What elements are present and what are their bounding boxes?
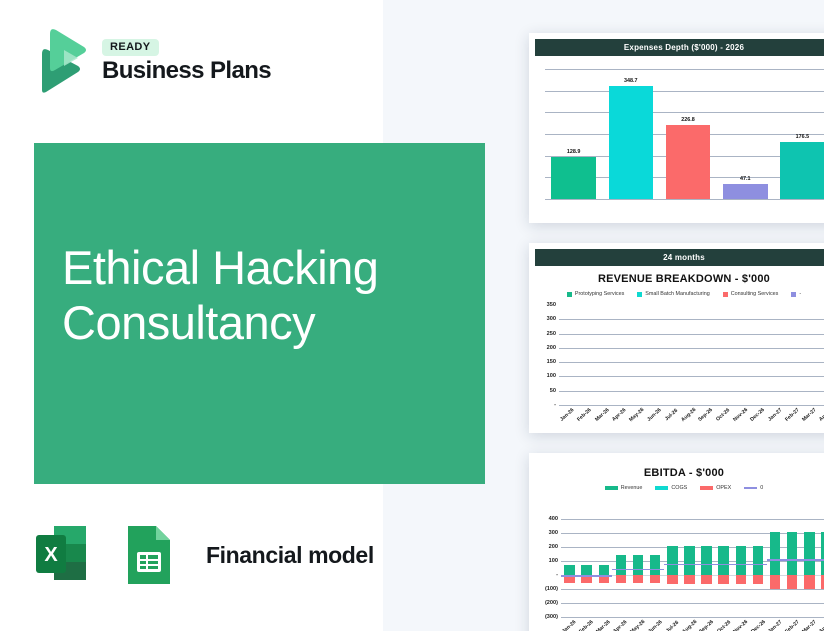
x-axis-tick: Dec-26 <box>750 619 767 631</box>
x-axis-tick: Feb-27 <box>784 619 800 631</box>
legend-item: Prototyping Services <box>567 291 624 297</box>
bar: 226.8 <box>666 125 711 199</box>
bar-value-label: 348.7 <box>624 78 638 84</box>
x-axis-slot: Jan-26 <box>559 405 576 418</box>
brand-name: Business Plans <box>102 59 271 83</box>
line-series-point <box>578 575 595 576</box>
y-axis-tick: - <box>556 572 558 578</box>
x-axis-slot: Aug-26 <box>680 405 698 418</box>
legend-swatch-icon <box>700 486 713 490</box>
line-series-point <box>784 559 801 560</box>
y-axis-tick: 200 <box>547 345 556 351</box>
x-axis-tick: May-26 <box>628 407 645 423</box>
x-axis-tick: Jan-26 <box>559 407 575 422</box>
legend-swatch-icon <box>744 487 757 489</box>
x-axis-tick: Dec-26 <box>749 407 766 423</box>
x-axis-slot: Jun-26 <box>647 617 664 630</box>
legend-label: Revenue <box>621 485 643 491</box>
bar-slot <box>561 519 578 617</box>
x-axis-tick: Jan-27 <box>767 619 783 631</box>
x-axis-slot: Nov-26 <box>732 617 749 630</box>
brand-text: READY Business Plans <box>102 39 271 83</box>
x-axis-slot: Mar-26 <box>595 617 612 630</box>
bar-group: 128.9348.7226.847.1176.5 <box>545 69 824 199</box>
y-axis-tick: 100 <box>549 558 558 564</box>
bar-segment <box>599 565 610 576</box>
x-axis-tick: Sep-26 <box>699 619 716 631</box>
gridline <box>545 199 824 200</box>
bar-slot <box>681 519 698 617</box>
legend-label: Prototyping Services <box>575 291 624 297</box>
legend-item: COGS <box>655 485 687 491</box>
bar-slot <box>664 519 681 617</box>
bar-segment <box>633 555 644 575</box>
bar-slot <box>559 305 576 405</box>
ebitda-plot: 400300200100-(100)(200)(300)Jan-26Feb-26… <box>561 519 824 617</box>
bar-segment <box>736 546 747 575</box>
excel-icon: X <box>30 522 96 588</box>
x-axis-slot: Nov-26 <box>732 405 749 418</box>
bar-segment <box>616 555 627 575</box>
expenses-plot: 128.9348.7226.847.1176.5 <box>545 69 824 199</box>
line-series-point <box>715 564 732 565</box>
legend-label: COGS <box>671 485 687 491</box>
x-axis-slot: Dec-26 <box>750 617 767 630</box>
footer-row: X Financial model <box>30 522 374 588</box>
line-series-point <box>647 569 664 570</box>
line-series-point <box>681 564 698 565</box>
x-axis-slot: Mar-26 <box>593 405 610 418</box>
legend-swatch-icon <box>567 292 572 297</box>
bar-segment <box>684 546 695 575</box>
line-series-point <box>732 564 749 565</box>
brand-lockup: READY Business Plans <box>28 28 271 94</box>
x-axis-slot: Sep-26 <box>698 617 715 630</box>
bar: 176.5 <box>780 142 824 199</box>
bar-slot <box>578 519 595 617</box>
y-axis-tick: (200) <box>545 600 558 606</box>
bar-segment <box>581 565 592 576</box>
x-axis-labels: Jan-26Feb-26Mar-26Apr-26May-26Jun-26Jul-… <box>561 617 824 630</box>
legend-swatch-icon <box>655 486 668 490</box>
bar: 47.1 <box>723 184 768 199</box>
x-axis-slot: Jun-26 <box>645 405 662 418</box>
x-axis-tick: Mar-26 <box>594 407 610 423</box>
x-axis-slot: Mar-27 <box>801 405 818 418</box>
legend-label: Small Batch Manufacturing <box>645 291 709 297</box>
bar-slot <box>818 519 824 617</box>
legend-item: Consulting Services <box>723 291 779 297</box>
page-title: Ethical Hacking Consultancy <box>62 240 472 351</box>
bar-segment <box>701 575 712 584</box>
bar-slot <box>801 519 818 617</box>
legend-item: OPEX <box>700 485 731 491</box>
bar-slot <box>749 519 766 617</box>
x-axis-slot: Jan-26 <box>561 617 578 630</box>
bar-slot <box>697 305 714 405</box>
bar-segment <box>650 575 661 583</box>
bar-segment <box>667 575 678 584</box>
bar-segment <box>684 575 695 584</box>
x-axis-slot: Jan-27 <box>766 405 783 418</box>
bar-segment <box>753 575 764 584</box>
bar-slot: 226.8 <box>659 69 716 199</box>
y-axis-tick: - <box>554 402 556 408</box>
x-axis-tick: Apr-27 <box>818 407 824 422</box>
chart-card-expenses: Expenses Depth ($'000) - 2026 128.9348.7… <box>529 33 824 223</box>
x-axis-slot: Feb-27 <box>784 617 801 630</box>
revenue-chart-header: 24 months <box>535 249 824 266</box>
x-axis-tick: Jul-26 <box>664 408 679 422</box>
legend-swatch-icon <box>605 486 618 490</box>
x-axis-slot: Sep-26 <box>697 405 714 418</box>
bar-slot <box>784 519 801 617</box>
x-axis-tick: Nov-26 <box>733 619 750 631</box>
bar-slot <box>818 305 824 405</box>
x-axis-tick: Oct-26 <box>715 407 731 422</box>
revenue-chart-title: REVENUE BREAKDOWN - $'000 <box>529 273 824 285</box>
x-axis-slot: Feb-26 <box>576 405 593 418</box>
line-series-point <box>818 559 824 560</box>
y-axis-tick: (100) <box>545 586 558 592</box>
x-axis-tick: Apr-26 <box>612 619 628 631</box>
bar-segment <box>770 532 781 575</box>
bar-segment <box>718 575 729 584</box>
bar-slot <box>801 305 818 405</box>
bar-segment <box>633 575 644 583</box>
bar-slot <box>732 305 749 405</box>
x-axis-slot: Jan-27 <box>767 617 784 630</box>
bar-group <box>561 519 824 617</box>
bar: 128.9 <box>551 157 596 199</box>
x-axis-tick: Jan-27 <box>767 407 783 422</box>
x-axis-tick: Sep-26 <box>698 407 715 423</box>
bar-slot <box>766 305 783 405</box>
y-axis-tick: 350 <box>547 302 556 308</box>
line-series-point <box>612 569 629 570</box>
x-axis-slot: Oct-26 <box>715 405 732 418</box>
x-axis-tick: Jan-26 <box>561 619 577 631</box>
x-axis-tick: Aug-26 <box>681 619 698 631</box>
bar-value-label: 128.9 <box>567 149 581 155</box>
legend-swatch-icon <box>791 292 796 297</box>
y-axis-tick: 200 <box>549 544 558 550</box>
bar-slot: 176.5 <box>774 69 824 199</box>
bar-slot <box>698 519 715 617</box>
page-title-line1: Ethical Hacking <box>62 240 472 295</box>
x-axis-slot: Apr-26 <box>612 617 629 630</box>
bar-segment <box>736 575 747 584</box>
revenue-legend: Prototyping ServicesSmall Batch Manufact… <box>529 291 824 297</box>
bar-slot <box>715 519 732 617</box>
bar-slot <box>732 519 749 617</box>
y-axis-tick: 300 <box>549 530 558 536</box>
x-axis-slot: Mar-27 <box>801 617 818 630</box>
x-axis-tick: Apr-27 <box>818 619 824 631</box>
play-triangles-logo-icon <box>28 28 90 94</box>
x-axis-tick: Mar-27 <box>801 407 817 423</box>
bar-value-label: 176.5 <box>796 134 810 140</box>
bar-slot <box>749 305 766 405</box>
x-axis-slot: Aug-26 <box>681 617 699 630</box>
y-axis-tick: (300) <box>545 614 558 620</box>
line-series-point <box>801 559 818 560</box>
chart-card-ebitda: EBITDA - $'000 RevenueCOGSOPEX0 40030020… <box>529 453 824 631</box>
y-axis-tick: 150 <box>547 359 556 365</box>
bar-segment <box>787 532 798 575</box>
bar-slot: 128.9 <box>545 69 602 199</box>
x-axis-tick: Nov-26 <box>732 407 749 423</box>
x-axis-tick: Jul-26 <box>665 620 680 631</box>
x-axis-slot: Dec-26 <box>749 405 766 418</box>
x-axis-slot: Apr-27 <box>818 405 824 418</box>
bar-segment <box>667 546 678 575</box>
bar-slot <box>647 519 664 617</box>
x-axis-tick: Apr-26 <box>611 407 627 422</box>
line-series-point <box>664 564 681 565</box>
x-axis-slot: Apr-26 <box>611 405 628 418</box>
x-axis-tick: Feb-26 <box>578 619 594 631</box>
x-axis-tick: Jun-26 <box>647 619 663 631</box>
x-axis-slot: Jul-26 <box>664 617 681 630</box>
y-axis-tick: 100 <box>547 373 556 379</box>
y-axis-tick: 300 <box>547 316 556 322</box>
legend-label: OPEX <box>716 485 731 491</box>
bar-segment <box>616 575 627 583</box>
x-axis-tick: Feb-26 <box>577 407 593 423</box>
line-series-point <box>630 569 647 570</box>
x-axis-tick: Feb-27 <box>784 407 800 423</box>
bar-segment <box>787 575 798 589</box>
bar-slot <box>612 519 629 617</box>
ready-badge: READY <box>102 39 159 56</box>
bar-slot <box>628 305 645 405</box>
bar-segment <box>804 575 815 589</box>
legend-item: Small Batch Manufacturing <box>637 291 709 297</box>
bar-slot: 348.7 <box>602 69 659 199</box>
x-axis-slot: Feb-26 <box>578 617 595 630</box>
x-axis-tick: Jun-26 <box>646 407 662 423</box>
legend-swatch-icon <box>723 292 728 297</box>
x-axis-tick: Aug-26 <box>680 407 697 423</box>
bar-value-label: 226.8 <box>681 117 695 123</box>
ebitda-legend: RevenueCOGSOPEX0 <box>529 485 824 491</box>
legend-item: 0 <box>744 485 763 491</box>
bar-slot <box>611 305 628 405</box>
bar-segment <box>753 546 764 575</box>
line-series-point <box>698 564 715 565</box>
x-axis-tick: Mar-27 <box>801 619 817 631</box>
x-axis-tick: May-26 <box>629 619 646 631</box>
chart-card-revenue: 24 months REVENUE BREAKDOWN - $'000 Prot… <box>529 243 824 433</box>
bar-slot <box>576 305 593 405</box>
line-series-point <box>749 564 766 565</box>
bar: 348.7 <box>609 86 654 199</box>
bar-segment <box>701 546 712 575</box>
bar-value-label: 47.1 <box>740 176 751 182</box>
x-axis-tick: Mar-26 <box>595 619 611 631</box>
bar-slot <box>595 519 612 617</box>
bar-slot: 47.1 <box>717 69 774 199</box>
bar-slot <box>594 305 611 405</box>
page-title-line2: Consultancy <box>62 295 472 350</box>
x-axis-labels: Jan-26Feb-26Mar-26Apr-26May-26Jun-26Jul-… <box>559 405 824 418</box>
revenue-plot: 35030025020015010050-Jan-26Feb-26Mar-26A… <box>559 305 824 405</box>
bar-slot <box>663 305 680 405</box>
y-axis-tick: 250 <box>547 331 556 337</box>
google-sheets-icon <box>116 522 182 588</box>
x-axis-slot: Feb-27 <box>783 405 800 418</box>
ebitda-chart-title: EBITDA - $'000 <box>529 467 824 479</box>
legend-label: Consulting Services <box>731 291 779 297</box>
bar-segment <box>804 532 815 575</box>
line-series-point <box>561 575 578 576</box>
bar-slot <box>767 519 784 617</box>
title-block: Ethical Hacking Consultancy <box>34 143 485 484</box>
legend-swatch-icon <box>637 292 642 297</box>
bar-segment <box>564 565 575 576</box>
legend-item: Revenue <box>605 485 643 491</box>
x-axis-slot: May-26 <box>629 617 647 630</box>
x-axis-tick: Oct-26 <box>716 619 732 631</box>
x-axis-slot: Oct-26 <box>715 617 732 630</box>
y-axis-tick: 50 <box>550 388 556 394</box>
x-axis-slot: Apr-27 <box>818 617 824 630</box>
line-series-point <box>767 559 784 560</box>
bar-slot <box>645 305 662 405</box>
bar-segment <box>650 555 661 575</box>
bar-slot <box>714 305 731 405</box>
legend-label: 0 <box>760 485 763 491</box>
x-axis-slot: May-26 <box>628 405 646 418</box>
svg-text:X: X <box>44 544 58 566</box>
expenses-chart-header: Expenses Depth ($'000) - 2026 <box>535 39 824 56</box>
footer-label: Financial model <box>206 542 374 569</box>
bar-slot <box>783 305 800 405</box>
bar-segment <box>718 546 729 575</box>
line-series-point <box>595 575 612 576</box>
bar-segment <box>770 575 781 589</box>
x-axis-slot: Jul-26 <box>663 405 680 418</box>
bar-group <box>559 305 824 405</box>
bar-slot <box>630 519 647 617</box>
legend-label: - <box>799 291 801 297</box>
y-axis-tick: 400 <box>549 516 558 522</box>
bar-slot <box>680 305 697 405</box>
legend-item: - <box>791 291 801 297</box>
